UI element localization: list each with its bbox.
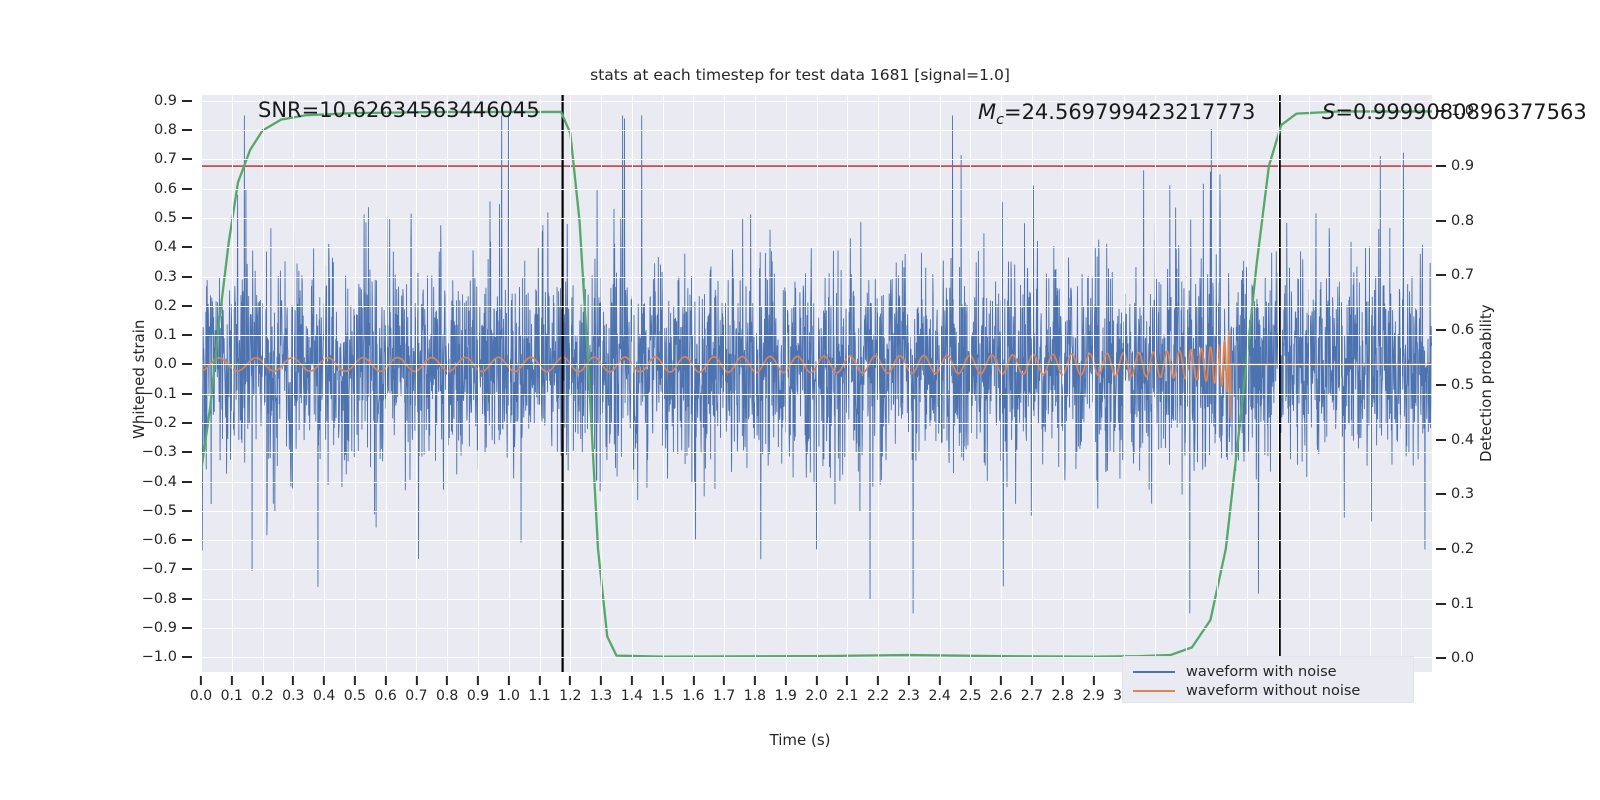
grid-line-vertical xyxy=(970,95,971,672)
chirp-mass-symbol: M xyxy=(978,100,996,124)
grid-line-vertical xyxy=(570,95,571,672)
chirp-mass-subscript: c xyxy=(996,112,1004,128)
legend-label-noise: waveform with noise xyxy=(1186,664,1337,680)
chart-title: stats at each timestep for test data 168… xyxy=(0,66,1600,84)
significance-value: =0.9999080896377563 xyxy=(1335,100,1586,124)
legend-swatch-clean xyxy=(1133,690,1175,692)
x-tick: 0.0 xyxy=(190,676,212,704)
legend-swatch-noise xyxy=(1133,671,1175,673)
y-tick-right: 0.1 xyxy=(1436,596,1474,612)
grid-line-vertical xyxy=(847,95,848,672)
grid-line-vertical xyxy=(878,95,879,672)
y-tick-right: 0.9 xyxy=(1436,158,1474,174)
grid-line-vertical xyxy=(1370,95,1371,672)
y-tick-left: −0.6 xyxy=(142,532,192,548)
y-tick-right: 0.3 xyxy=(1436,486,1474,502)
y-tick-left: −0.8 xyxy=(142,591,192,607)
y-tick-left: 0.4 xyxy=(154,239,192,255)
x-tick: 0.8 xyxy=(436,676,458,704)
grid-line-vertical xyxy=(663,95,664,672)
x-tick: 1.8 xyxy=(744,676,766,704)
y-tick-left: 0.7 xyxy=(154,151,192,167)
y-tick-right: 0.6 xyxy=(1436,322,1474,338)
grid-line-vertical xyxy=(201,95,202,672)
y-tick-left: 0.8 xyxy=(154,122,192,138)
grid-line-vertical xyxy=(1401,95,1402,672)
y-tick-right: 0.2 xyxy=(1436,541,1474,557)
significance-symbol: S xyxy=(1322,100,1335,124)
x-tick: 2.1 xyxy=(836,676,858,704)
y-axis-right-label: Detection probability xyxy=(1477,304,1495,462)
x-tick: 1.6 xyxy=(682,676,704,704)
plot-area[interactable] xyxy=(201,95,1432,672)
grid-line-vertical xyxy=(386,95,387,672)
legend-box[interactable]: waveform with noise waveform without noi… xyxy=(1122,656,1414,703)
x-tick: 1.4 xyxy=(621,676,643,704)
y-tick-right: 0.4 xyxy=(1436,432,1474,448)
x-tick: 2.2 xyxy=(867,676,889,704)
grid-line-vertical xyxy=(263,95,264,672)
grid-line-vertical xyxy=(786,95,787,672)
x-tick: 1.2 xyxy=(559,676,581,704)
y-tick-left: 0.3 xyxy=(154,269,192,285)
y-tick-left: 0.9 xyxy=(154,93,192,109)
x-tick: 1.7 xyxy=(713,676,735,704)
x-tick: 2.5 xyxy=(959,676,981,704)
x-tick: 2.7 xyxy=(1021,676,1043,704)
y-tick-right: 0.0 xyxy=(1436,650,1474,666)
grid-line-vertical xyxy=(1124,95,1125,672)
y-tick-right: 0.5 xyxy=(1436,377,1474,393)
y-tick-left: 0.5 xyxy=(154,210,192,226)
x-tick: 1.1 xyxy=(528,676,550,704)
y-tick-left: 0.1 xyxy=(154,327,192,343)
y-tick-left: 0.0 xyxy=(154,356,192,372)
grid-line-vertical xyxy=(293,95,294,672)
y-tick-left: −1.0 xyxy=(142,649,192,665)
grid-line-vertical xyxy=(909,95,910,672)
y-tick-left: −0.7 xyxy=(142,561,192,577)
y-tick-left: −0.2 xyxy=(142,415,192,431)
grid-line-vertical xyxy=(755,95,756,672)
grid-line-vertical xyxy=(1217,95,1218,672)
y-tick-left: −0.5 xyxy=(142,503,192,519)
x-tick: 1.3 xyxy=(590,676,612,704)
grid-line-vertical xyxy=(940,95,941,672)
x-tick: 1.9 xyxy=(775,676,797,704)
chirp-mass-annotation: Mc=24.569799423217773 xyxy=(978,100,1255,128)
grid-line-vertical xyxy=(817,95,818,672)
grid-line-vertical xyxy=(447,95,448,672)
grid-line-vertical xyxy=(724,95,725,672)
y-tick-left: 0.2 xyxy=(154,298,192,314)
legend-label-clean: waveform without noise xyxy=(1186,683,1360,699)
grid-line-vertical xyxy=(1247,95,1248,672)
y-tick-left: −0.4 xyxy=(142,474,192,490)
grid-line-vertical xyxy=(416,95,417,672)
x-tick: 0.5 xyxy=(344,676,366,704)
x-tick: 2.9 xyxy=(1082,676,1104,704)
x-tick: 2.8 xyxy=(1052,676,1074,704)
x-tick: 2.0 xyxy=(805,676,827,704)
grid-line-vertical xyxy=(632,95,633,672)
y-tick-left: −0.3 xyxy=(142,444,192,460)
legend-item-clean[interactable]: waveform without noise xyxy=(1133,681,1403,700)
x-tick: 1.0 xyxy=(498,676,520,704)
chirp-mass-value: =24.569799423217773 xyxy=(1004,100,1255,124)
grid-line-vertical xyxy=(693,95,694,672)
x-tick: 2.3 xyxy=(898,676,920,704)
y-tick-left: −0.9 xyxy=(142,620,192,636)
x-tick: 0.6 xyxy=(375,676,397,704)
y-tick-right: 0.8 xyxy=(1436,213,1474,229)
grid-line-vertical xyxy=(1093,95,1094,672)
x-tick: 0.3 xyxy=(282,676,304,704)
grid-line-vertical xyxy=(1032,95,1033,672)
grid-line-vertical xyxy=(1001,95,1002,672)
grid-line-vertical xyxy=(478,95,479,672)
significance-annotation: S=0.9999080896377563 xyxy=(1322,100,1587,124)
grid-line-vertical xyxy=(1278,95,1279,672)
x-tick: 0.7 xyxy=(405,676,427,704)
grid-line-vertical xyxy=(1309,95,1310,672)
x-tick: 1.5 xyxy=(651,676,673,704)
snr-text: SNR=10.62634563446045 xyxy=(258,98,540,122)
grid-line-vertical xyxy=(324,95,325,672)
x-tick: 0.1 xyxy=(221,676,243,704)
grid-line-vertical xyxy=(1063,95,1064,672)
figure-canvas: stats at each timestep for test data 168… xyxy=(0,0,1600,800)
y-tick-left: −0.1 xyxy=(142,386,192,402)
x-tick: 0.9 xyxy=(467,676,489,704)
x-tick: 0.4 xyxy=(313,676,335,704)
grid-line-vertical xyxy=(1186,95,1187,672)
x-tick: 0.2 xyxy=(251,676,273,704)
grid-line-vertical xyxy=(232,95,233,672)
x-tick: 2.6 xyxy=(990,676,1012,704)
y-tick-right: 0.7 xyxy=(1436,267,1474,283)
grid-line-vertical xyxy=(601,95,602,672)
grid-line-vertical xyxy=(1340,95,1341,672)
x-axis-label: Time (s) xyxy=(0,731,1600,749)
x-tick: 2.4 xyxy=(928,676,950,704)
grid-line-vertical xyxy=(355,95,356,672)
snr-annotation: SNR=10.62634563446045 xyxy=(258,98,540,122)
grid-line-vertical xyxy=(540,95,541,672)
legend-item-noise[interactable]: waveform with noise xyxy=(1133,662,1403,681)
y-tick-left: 0.6 xyxy=(154,181,192,197)
grid-line-vertical xyxy=(509,95,510,672)
grid-line-vertical xyxy=(1155,95,1156,672)
